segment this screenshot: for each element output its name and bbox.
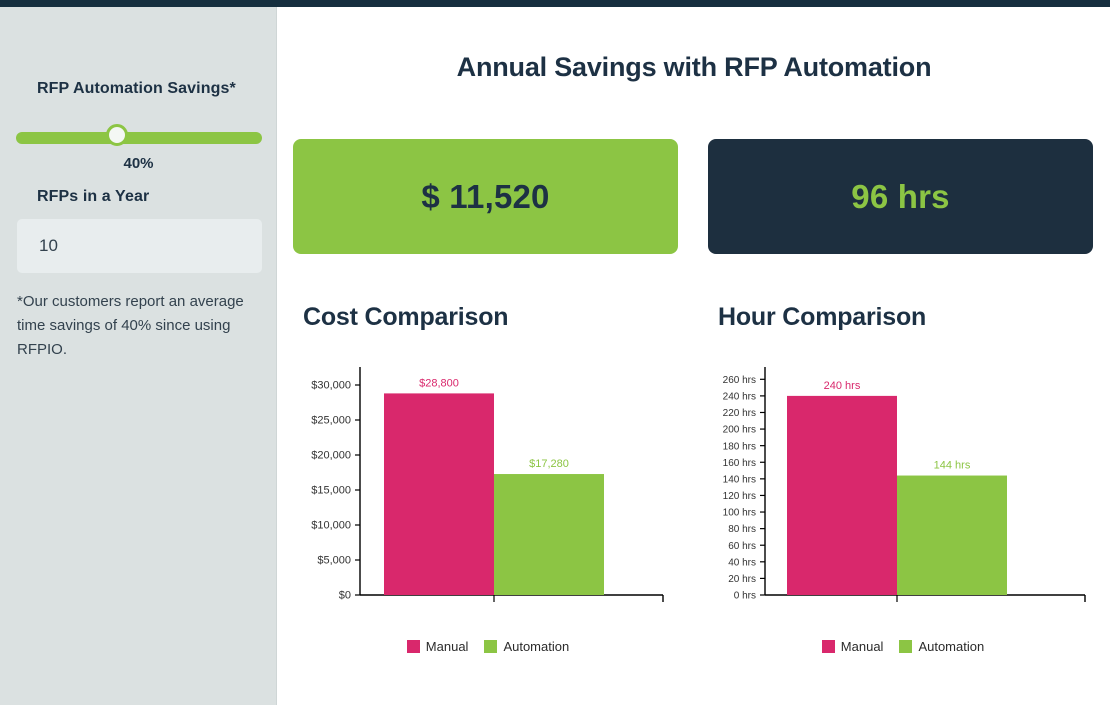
svg-text:240 hrs: 240 hrs [824, 380, 861, 392]
legend-item-manual[interactable]: Manual [822, 639, 884, 654]
cost-chart-legend: ManualAutomation [288, 639, 688, 654]
hour-chart-title: Hour Comparison [718, 303, 926, 332]
kpi-cost-value: $ 11,520 [421, 178, 549, 216]
cost-comparison-chart: $0$5,000$10,000$15,000$20,000$25,000$30,… [288, 355, 688, 660]
kpi-card-hours-savings: 96 hrs [708, 139, 1093, 254]
rfps-per-year-label: RFPs in a Year [37, 188, 149, 206]
slider-track[interactable] [16, 132, 262, 144]
svg-text:140 hrs: 140 hrs [723, 474, 756, 485]
slider-thumb[interactable] [106, 124, 128, 146]
calculator-page: RFP Automation Savings* 40% RFPs in a Ye… [0, 0, 1110, 709]
svg-text:100 hrs: 100 hrs [723, 508, 756, 519]
svg-text:$25,000: $25,000 [311, 415, 351, 427]
svg-text:0 hrs: 0 hrs [734, 591, 756, 602]
svg-text:80 hrs: 80 hrs [728, 524, 756, 535]
legend-item-automation[interactable]: Automation [484, 639, 569, 654]
legend-swatch-automation [484, 640, 497, 653]
svg-text:$28,800: $28,800 [419, 377, 459, 389]
svg-text:144 hrs: 144 hrs [934, 460, 971, 472]
legend-label: Manual [841, 639, 884, 654]
savings-slider[interactable] [16, 124, 262, 152]
svg-text:$10,000: $10,000 [311, 520, 351, 532]
svg-text:220 hrs: 220 hrs [723, 408, 756, 419]
bar-manual [787, 396, 897, 595]
hour-chart-plot: 0 hrs20 hrs40 hrs60 hrs80 hrs100 hrs120 … [703, 355, 1103, 623]
cost-chart-plot: $0$5,000$10,000$15,000$20,000$25,000$30,… [288, 355, 688, 623]
legend-label: Automation [503, 639, 569, 654]
hour-comparison-chart: 0 hrs20 hrs40 hrs60 hrs80 hrs100 hrs120 … [703, 355, 1103, 660]
page-title: Annual Savings with RFP Automation [278, 52, 1110, 83]
legend-item-automation[interactable]: Automation [899, 639, 984, 654]
legend-label: Automation [918, 639, 984, 654]
results-panel: Annual Savings with RFP Automation $ 11,… [278, 7, 1110, 705]
bar-automation [494, 474, 604, 595]
cost-chart-title: Cost Comparison [303, 303, 508, 332]
svg-text:$20,000: $20,000 [311, 450, 351, 462]
svg-text:120 hrs: 120 hrs [723, 491, 756, 502]
hour-chart-legend: ManualAutomation [703, 639, 1103, 654]
svg-text:260 hrs: 260 hrs [723, 375, 756, 386]
svg-text:20 hrs: 20 hrs [728, 574, 756, 585]
svg-text:40 hrs: 40 hrs [728, 557, 756, 568]
slider-value-label: 40% [0, 155, 277, 172]
bar-automation [897, 476, 1007, 595]
svg-text:240 hrs: 240 hrs [723, 391, 756, 402]
rfps-per-year-input[interactable] [17, 219, 262, 273]
footnote-text: *Our customers report an average time sa… [17, 290, 249, 362]
svg-text:$15,000: $15,000 [311, 485, 351, 497]
svg-text:60 hrs: 60 hrs [728, 541, 756, 552]
legend-label: Manual [426, 639, 469, 654]
legend-item-manual[interactable]: Manual [407, 639, 469, 654]
svg-text:$0: $0 [339, 590, 351, 602]
kpi-card-cost-savings: $ 11,520 [293, 139, 678, 254]
kpi-hours-value: 96 hrs [851, 178, 949, 216]
svg-text:$5,000: $5,000 [317, 555, 351, 567]
svg-text:160 hrs: 160 hrs [723, 458, 756, 469]
svg-text:200 hrs: 200 hrs [723, 425, 756, 436]
savings-slider-label: RFP Automation Savings* [37, 80, 236, 98]
bar-manual [384, 393, 494, 595]
svg-text:$17,280: $17,280 [529, 458, 569, 470]
svg-text:180 hrs: 180 hrs [723, 441, 756, 452]
svg-text:$30,000: $30,000 [311, 380, 351, 392]
top-accent-bar [0, 0, 1110, 7]
legend-swatch-automation [899, 640, 912, 653]
controls-sidebar: RFP Automation Savings* 40% RFPs in a Ye… [0, 7, 277, 705]
legend-swatch-manual [822, 640, 835, 653]
legend-swatch-manual [407, 640, 420, 653]
